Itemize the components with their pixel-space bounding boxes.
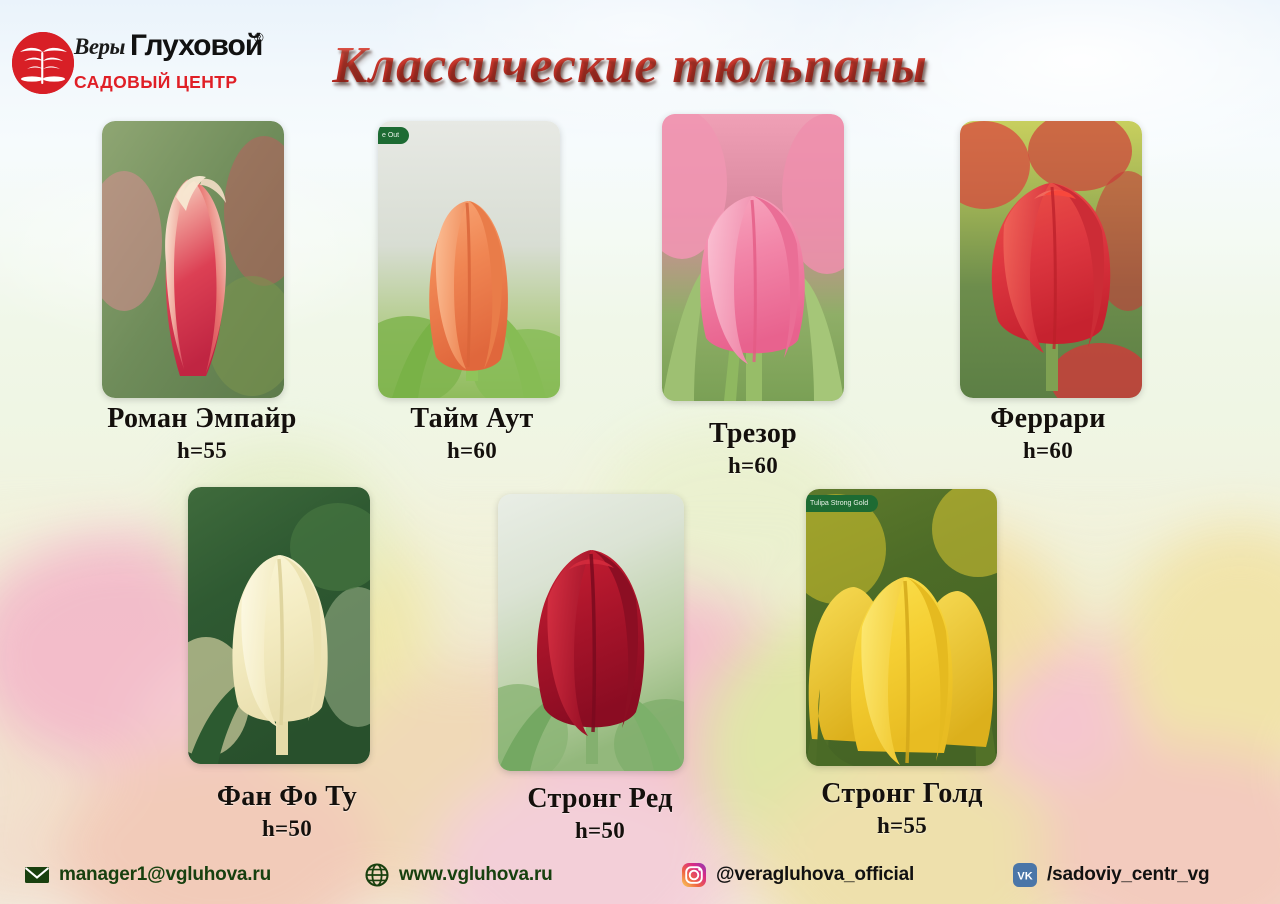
tulip-height: h=50 <box>146 814 428 844</box>
tulip-name: Роман Эмпайр <box>28 402 376 436</box>
tulip-name: Трезор <box>622 417 884 451</box>
contact-vk-text: /sadoviy_centr_vg <box>1047 864 1209 886</box>
image-badge-strong-gold: Tulipa Strong Gold <box>806 495 878 512</box>
tulip-height: h=55 <box>28 436 376 466</box>
svg-text:VK: VK <box>1017 871 1032 883</box>
tulip-label-time-out: Тайм Аут h=60 <box>330 402 614 466</box>
envelope-icon <box>24 862 50 888</box>
red-white-tulip-photo <box>102 121 284 398</box>
tulip-label-strong-red: Стронг Ред h=50 <box>460 782 740 846</box>
dark-red-tulip-photo <box>498 494 684 771</box>
cream-white-tulip-photo <box>188 487 370 764</box>
tulip-height: h=55 <box>762 811 1042 841</box>
registered-trademark-icon: ® <box>254 30 264 45</box>
tulip-height: h=50 <box>460 816 740 846</box>
contact-email[interactable]: manager1@vgluhova.ru <box>24 860 271 890</box>
tulip-name: Стронг Ред <box>460 782 740 816</box>
tulip-card-time-out[interactable]: e Out <box>378 121 560 398</box>
logo-subtitle: САДОВЫЙ ЦЕНТР <box>74 72 237 93</box>
red-tulip-photo <box>960 121 1142 398</box>
tulip-card-strong-red[interactable] <box>498 494 684 771</box>
contact-footer: manager1@vgluhova.ru www.vgluhova.ru <box>0 846 1280 904</box>
contact-email-text: manager1@vgluhova.ru <box>59 864 271 886</box>
contact-instagram-text: @veragluhova_official <box>716 864 914 886</box>
pink-tulip-photo <box>662 114 844 401</box>
tulip-card-fan-fo-tu[interactable] <box>188 487 370 764</box>
orange-tulip-photo <box>378 121 560 398</box>
tulip-label-ferrari: Феррари h=60 <box>908 402 1188 466</box>
company-logo: Веры Глуховой ® САДОВЫЙ ЦЕНТР <box>10 28 260 98</box>
tulip-height: h=60 <box>330 436 614 466</box>
tulip-height: h=60 <box>622 451 884 481</box>
tulip-name: Тайм Аут <box>330 402 614 436</box>
poster-canvas: Веры Глуховой ® САДОВЫЙ ЦЕНТР Классическ… <box>0 0 1280 904</box>
tulip-label-roman-empire: Роман Эмпайр h=55 <box>28 402 376 466</box>
image-badge-time-out: e Out <box>378 127 409 144</box>
tulip-card-strong-gold[interactable]: Tulipa Strong Gold <box>806 489 997 766</box>
contact-vk[interactable]: VK /sadoviy_centr_vg <box>1012 860 1209 890</box>
bonsai-tree-in-red-circle-icon <box>12 32 74 94</box>
tulip-height: h=60 <box>908 436 1188 466</box>
tulip-label-trezor: Трезор h=60 <box>622 417 884 481</box>
instagram-icon <box>681 862 707 888</box>
tulip-label-fan-fo-tu: Фан Фо Ту h=50 <box>146 780 428 844</box>
yellow-tulips-photo <box>806 489 997 766</box>
contact-instagram[interactable]: @veragluhova_official <box>681 860 914 890</box>
tulip-label-strong-gold: Стронг Голд h=55 <box>762 777 1042 841</box>
tulip-name: Стронг Голд <box>762 777 1042 811</box>
tulip-card-trezor[interactable] <box>662 114 844 401</box>
contact-website[interactable]: www.vgluhova.ru <box>364 860 553 890</box>
contact-website-text: www.vgluhova.ru <box>399 864 553 886</box>
tulip-card-ferrari[interactable] <box>960 121 1142 398</box>
page-title: Классические тюльпаны <box>300 36 960 96</box>
tulip-name: Фан Фо Ту <box>146 780 428 814</box>
tulip-name: Феррари <box>908 402 1188 436</box>
logo-word-gluhova: Глуховой <box>130 29 262 63</box>
logo-word-vera: Веры <box>74 34 125 60</box>
tulip-card-roman-empire[interactable] <box>102 121 284 398</box>
vk-icon: VK <box>1012 862 1038 888</box>
globe-icon <box>364 862 390 888</box>
